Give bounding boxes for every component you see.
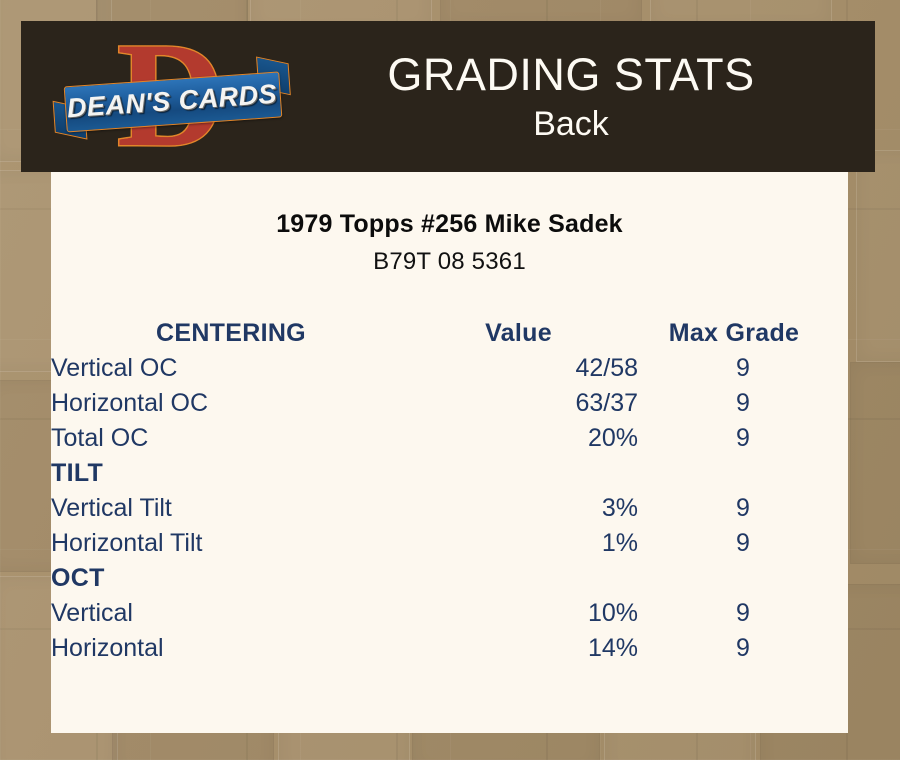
row-label: Horizontal Tilt: [51, 526, 421, 561]
section-spacer: [421, 456, 638, 491]
row-label: Vertical Tilt: [51, 491, 421, 526]
table-row: Vertical 10% 9: [51, 596, 848, 631]
section-header-row: OCT: [51, 561, 848, 596]
table-row: Vertical OC 42/58 9: [51, 351, 848, 386]
table-row: Vertical Tilt 3% 9: [51, 491, 848, 526]
column-header-value: Value: [421, 316, 638, 351]
column-header-max-grade: Max Grade: [638, 316, 848, 351]
content-panel: 1979 Topps #256 Mike Sadek B79T 08 5361 …: [51, 172, 848, 733]
row-max-grade: 9: [638, 386, 848, 421]
section-header-row: TILT: [51, 456, 848, 491]
section-spacer: [638, 561, 848, 596]
stats-table-head: CENTERING Value Max Grade: [51, 316, 848, 351]
page-title: GRADING STATS: [291, 49, 851, 101]
row-label: Horizontal OC: [51, 386, 421, 421]
section-spacer: [421, 561, 638, 596]
page-header: D DEAN'S CARDS GRADING STATS Back: [21, 21, 875, 172]
row-value: 1%: [421, 526, 638, 561]
grading-stats-page: D DEAN'S CARDS GRADING STATS Back 1979 T…: [0, 0, 900, 760]
deans-cards-logo[interactable]: D DEAN'S CARDS: [59, 27, 285, 167]
row-value: 42/58: [421, 351, 638, 386]
row-max-grade: 9: [638, 596, 848, 631]
section-label: OCT: [51, 561, 421, 596]
row-label: Total OC: [51, 421, 421, 456]
logo-wordmark: DEAN'S CARDS: [58, 69, 287, 133]
column-header-section: CENTERING: [51, 316, 421, 351]
stats-header-row: CENTERING Value Max Grade: [51, 316, 848, 351]
row-value: 10%: [421, 596, 638, 631]
table-row: Horizontal OC 63/37 9: [51, 386, 848, 421]
table-row: Total OC 20% 9: [51, 421, 848, 456]
card-title: 1979 Topps #256 Mike Sadek: [51, 210, 848, 239]
row-max-grade: 9: [638, 351, 848, 386]
row-label: Horizontal: [51, 631, 421, 666]
logo-wrap: D DEAN'S CARDS: [21, 21, 291, 172]
background-card-decor: [856, 150, 900, 362]
section-spacer: [638, 456, 848, 491]
row-label: Vertical OC: [51, 351, 421, 386]
table-row: Horizontal 14% 9: [51, 631, 848, 666]
row-value: 3%: [421, 491, 638, 526]
stats-table-body: Vertical OC 42/58 9 Horizontal OC 63/37 …: [51, 351, 848, 666]
page-subtitle: Back: [291, 103, 851, 145]
table-row: Horizontal Tilt 1% 9: [51, 526, 848, 561]
card-code: B79T 08 5361: [51, 248, 848, 276]
grading-stats-table: CENTERING Value Max Grade Vertical OC 42…: [51, 316, 848, 666]
row-value: 63/37: [421, 386, 638, 421]
row-max-grade: 9: [638, 421, 848, 456]
section-label: TILT: [51, 456, 421, 491]
row-max-grade: 9: [638, 526, 848, 561]
background-card-decor: [850, 362, 900, 564]
row-value: 20%: [421, 421, 638, 456]
row-value: 14%: [421, 631, 638, 666]
logo-ribbon: DEAN'S CARDS: [58, 69, 287, 135]
header-titles: GRADING STATS Back: [291, 49, 875, 145]
row-label: Vertical: [51, 596, 421, 631]
row-max-grade: 9: [638, 631, 848, 666]
row-max-grade: 9: [638, 491, 848, 526]
